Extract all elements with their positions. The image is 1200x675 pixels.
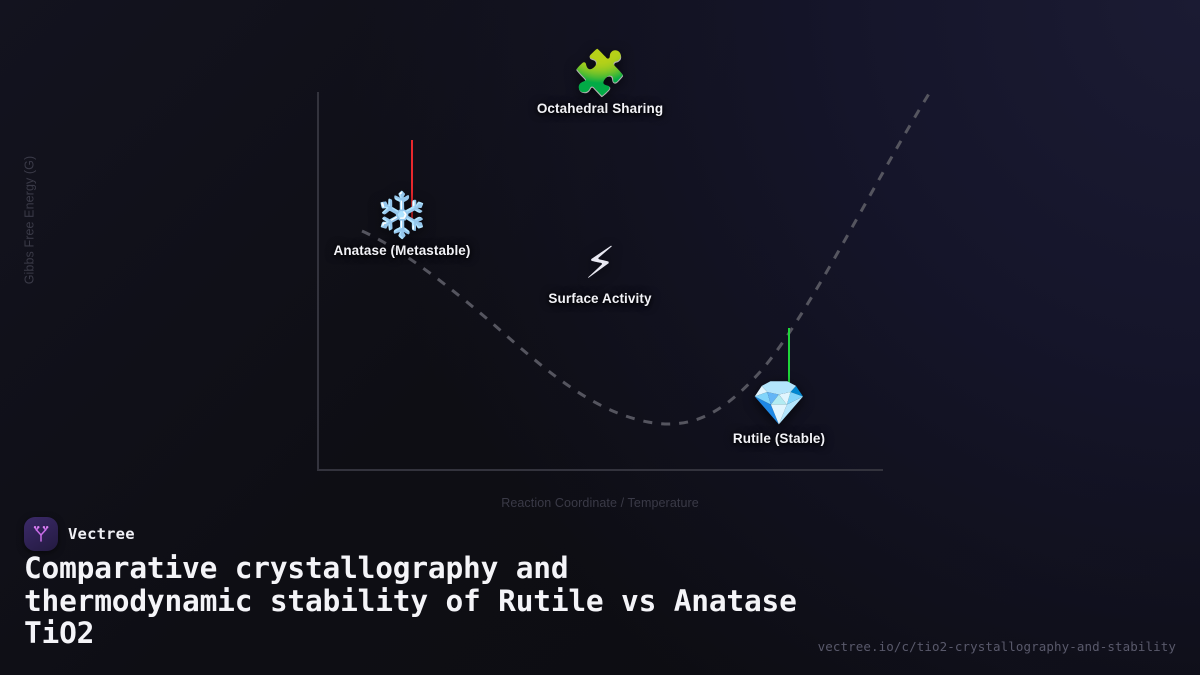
annotation-rutile-stable: 💎 Rutile (Stable) — [733, 378, 825, 446]
y-axis-label: Gibbs Free Energy (G) — [23, 128, 37, 313]
annotation-octahedral-sharing: 🧩 Octahedral Sharing — [537, 48, 663, 116]
annotation-label: Octahedral Sharing — [537, 101, 663, 116]
annotation-label: Anatase (Metastable) — [333, 243, 470, 258]
footer: Vectree Comparative crystallography and … — [0, 503, 1200, 675]
footer-url: vectree.io/c/tio2-crystallography-and-st… — [818, 639, 1176, 654]
lightning-bolt-icon: ⚡ — [548, 238, 651, 290]
annotation-label: Rutile (Stable) — [733, 431, 825, 446]
annotation-label: Surface Activity — [548, 291, 651, 306]
annotation-surface-activity: ⚡ Surface Activity — [548, 238, 651, 306]
vectree-tree-logo-icon — [24, 517, 58, 551]
brand-name: Vectree — [68, 525, 135, 543]
gem-stone-icon: 💎 — [733, 378, 825, 430]
page-title: Comparative crystallography and thermody… — [24, 552, 814, 650]
free-energy-chart: Gibbs Free Energy (G) Reaction Coordinat… — [0, 0, 1200, 485]
annotation-anatase-metastable: ❄️ Anatase (Metastable) — [333, 190, 470, 258]
brand-row[interactable]: Vectree — [24, 517, 135, 551]
snowflake-icon: ❄️ — [333, 190, 470, 242]
puzzle-piece-icon: 🧩 — [537, 48, 663, 100]
